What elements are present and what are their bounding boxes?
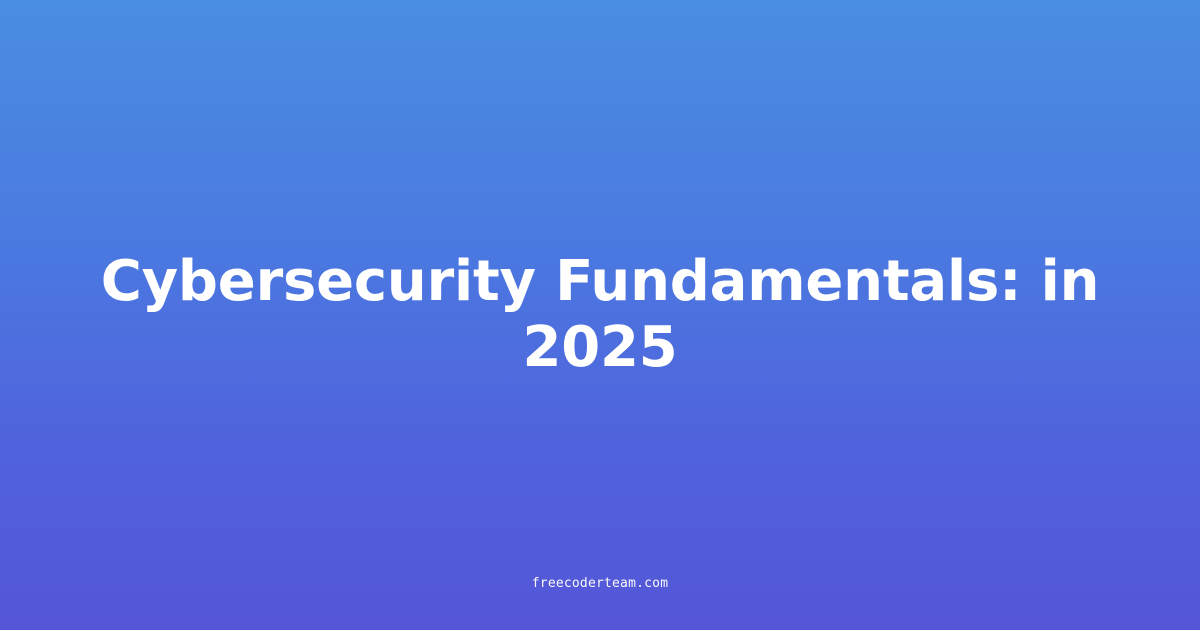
card-content-area: Cybersecurity Fundamentals: in 2025 <box>0 249 1200 381</box>
site-watermark: freecoderteam.com <box>0 577 1200 590</box>
page-title: Cybersecurity Fundamentals: in 2025 <box>60 249 1140 381</box>
og-card-banner: Cybersecurity Fundamentals: in 2025 free… <box>0 0 1200 630</box>
